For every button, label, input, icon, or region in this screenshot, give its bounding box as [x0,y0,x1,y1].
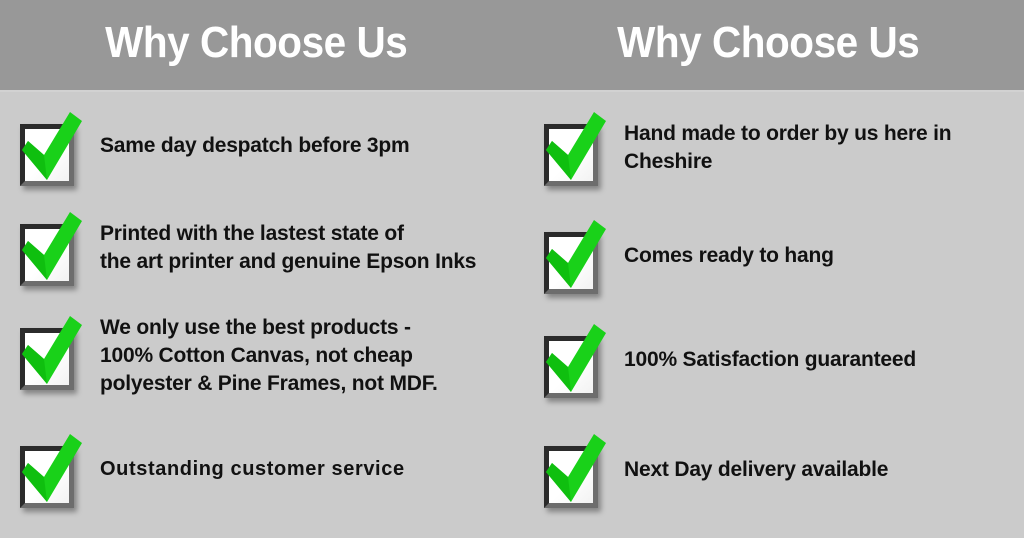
header-column-left: Why Choose Us [0,0,512,90]
list-item: 100% Satisfaction guaranteed [538,320,1024,430]
page-title-right: Why Choose Us [617,21,919,69]
header-band: Why Choose Us Why Choose Us [0,0,1024,92]
list-item: Hand made to order by us here in Cheshir… [538,108,1024,216]
list-item-label: Comes ready to hang [624,216,834,270]
green-check-box-icon [538,110,608,192]
green-check-box-icon [14,432,84,514]
green-check-box-icon [538,432,608,514]
list-item: We only use the best products - 100% Cot… [14,312,512,430]
list-item: Outstanding customer service [14,430,512,530]
green-check-box-icon [14,314,84,396]
header-column-right: Why Choose Us [512,0,1024,90]
list-item: Comes ready to hang [538,216,1024,320]
list-item-label: 100% Satisfaction guaranteed [624,320,916,374]
list-item-label: We only use the best products - 100% Cot… [100,312,438,398]
list-item: Next Day delivery available [538,430,1024,530]
list-item-label: Printed with the lastest state of the ar… [100,208,476,276]
page-title-left: Why Choose Us [105,21,407,69]
green-check-box-icon [14,210,84,292]
feature-column-left: Same day despatch before 3pm Printed wit… [0,92,512,538]
list-item: Printed with the lastest state of the ar… [14,208,512,312]
list-item: Same day despatch before 3pm [14,108,512,208]
list-item-label: Same day despatch before 3pm [100,108,410,160]
green-check-box-icon [538,322,608,404]
green-check-box-icon [14,110,84,192]
list-item-label: Hand made to order by us here in Cheshir… [624,108,951,176]
feature-columns: Same day despatch before 3pm Printed wit… [0,92,1024,538]
green-check-box-icon [538,218,608,300]
list-item-label: Outstanding customer service [100,430,405,483]
list-item-label: Next Day delivery available [624,430,888,484]
feature-column-right: Hand made to order by us here in Cheshir… [512,92,1024,538]
